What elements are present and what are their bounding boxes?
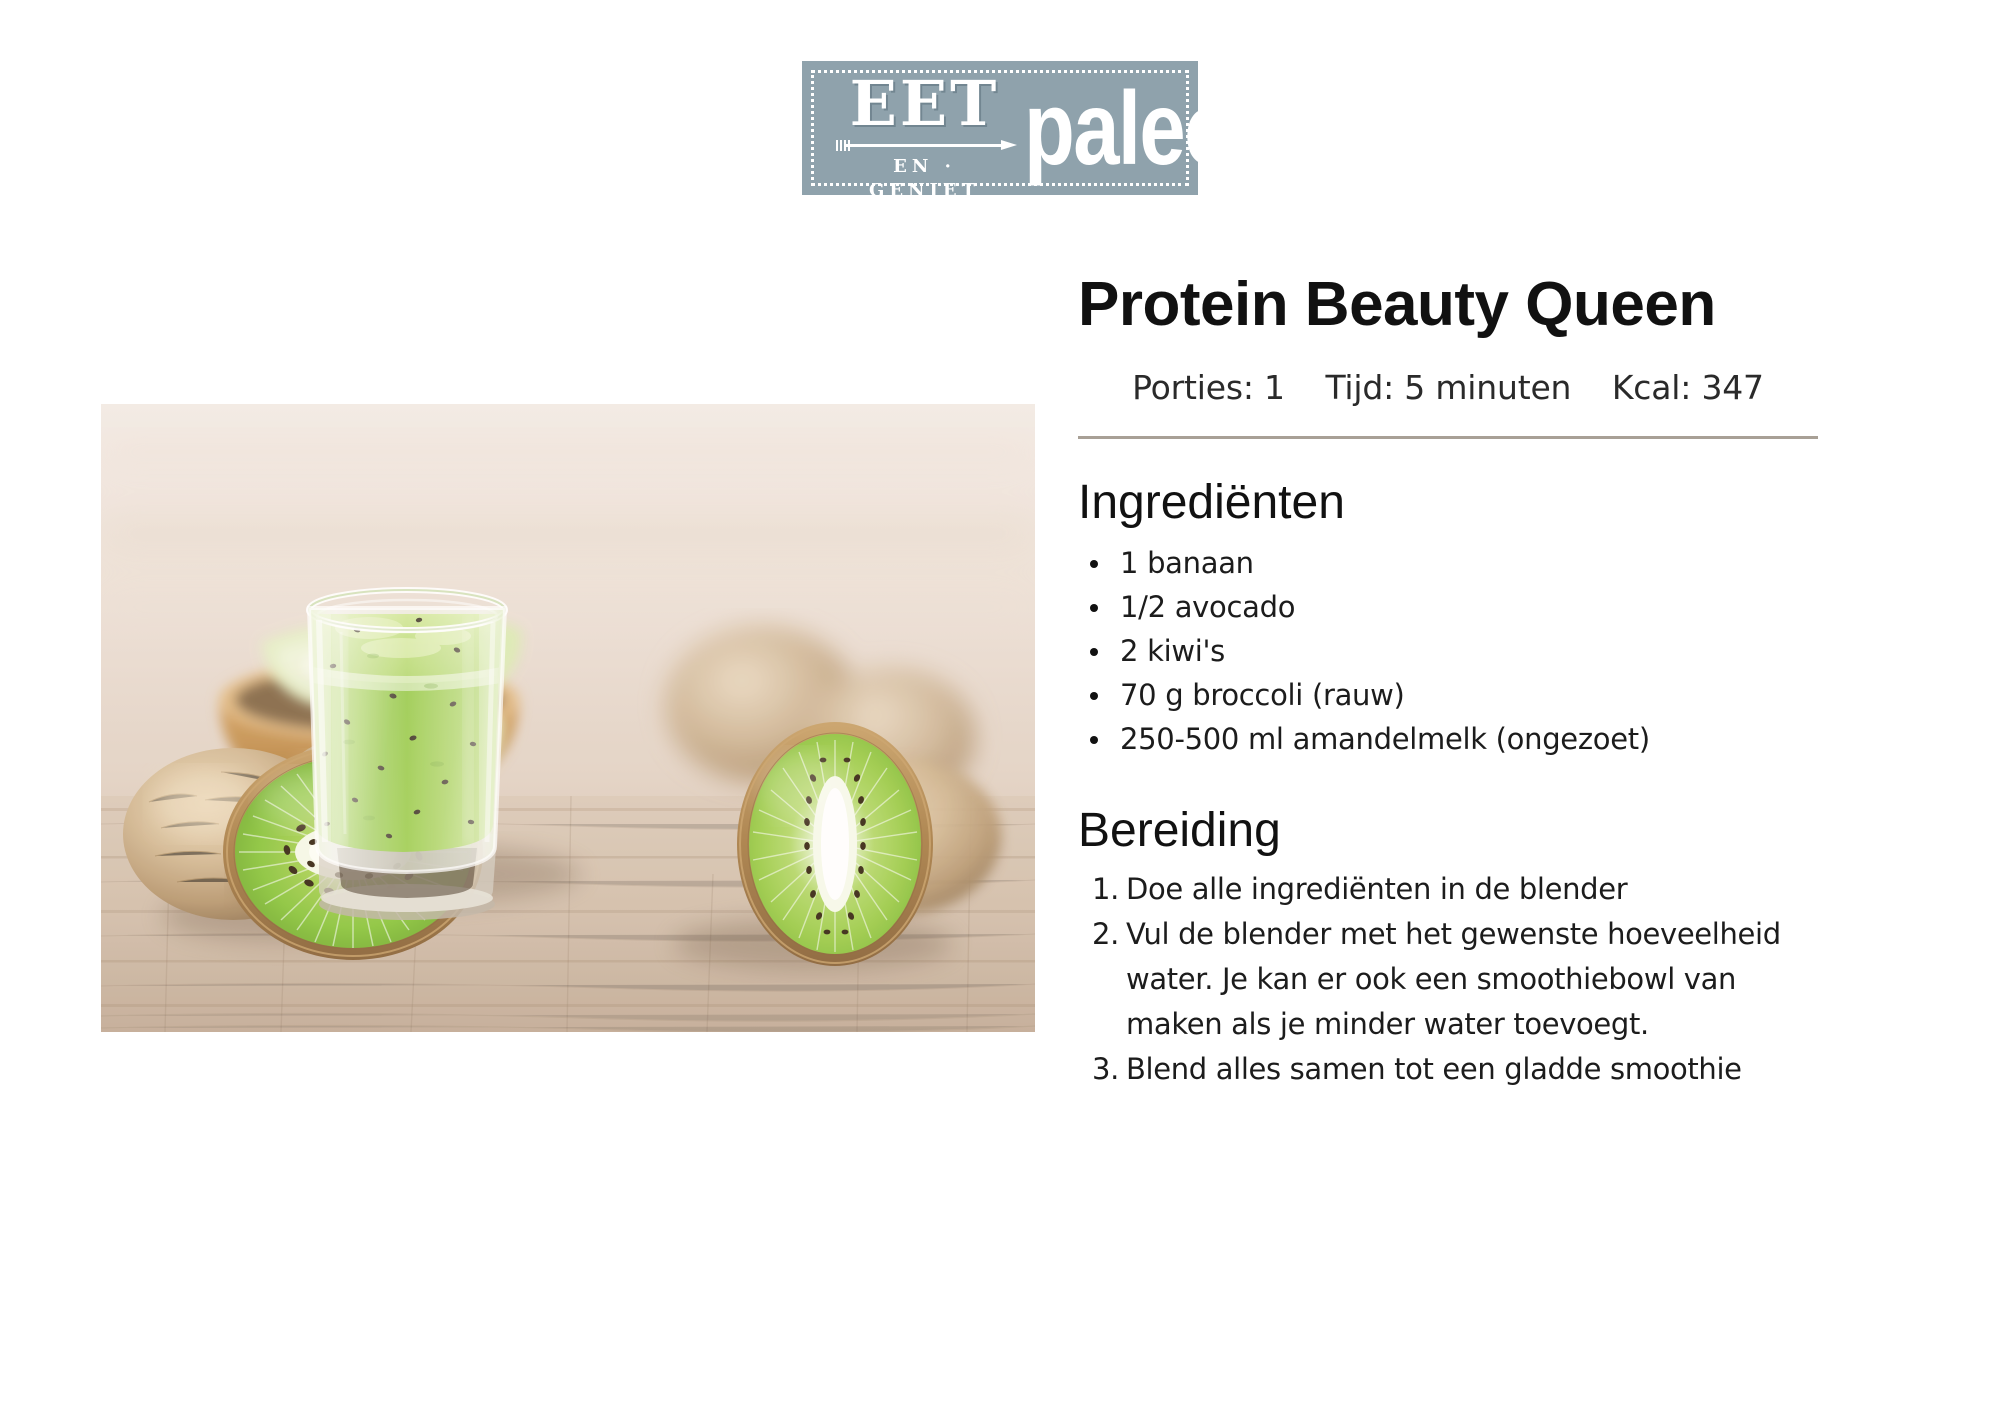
meta-calories: Kcal: 347 bbox=[1612, 368, 1764, 407]
fork-arrow-icon bbox=[832, 140, 1017, 151]
brand-name-primary: EET bbox=[832, 73, 1017, 135]
brand-name-secondary: paleo bbox=[1024, 77, 1233, 181]
list-item: 70 g broccoli (rauw) bbox=[1078, 673, 1818, 717]
preparation-list: Doe alle ingrediënten in de blender Vul … bbox=[1078, 867, 1818, 1092]
brand-tagline: EN · GENIET bbox=[832, 155, 1017, 203]
ingredients-heading: Ingrediënten bbox=[1078, 475, 1818, 531]
list-item: Doe alle ingrediënten in de blender bbox=[1078, 867, 1798, 912]
brand-logo-left-block: EET EN · GENIET bbox=[832, 73, 1017, 203]
list-item: Blend alles samen tot een gladde smoothi… bbox=[1078, 1047, 1798, 1092]
list-item: 1 banaan bbox=[1078, 541, 1818, 585]
recipe-photo bbox=[101, 404, 1035, 1032]
list-item: Vul de blender met het gewenste hoeveelh… bbox=[1078, 912, 1798, 1047]
section-divider bbox=[1078, 436, 1818, 439]
list-item: 250-500 ml amandelmelk (ongezoet) bbox=[1078, 717, 1818, 761]
meta-time: Tijd: 5 minuten bbox=[1325, 368, 1571, 407]
recipe-meta: Porties: 1 Tijd: 5 minuten Kcal: 347 bbox=[1078, 366, 1818, 410]
preparation-heading: Bereiding bbox=[1078, 803, 1818, 859]
list-item: 1/2 avocado bbox=[1078, 585, 1818, 629]
recipe-page: EET EN · GENIET paleo bbox=[0, 0, 2000, 1408]
recipe-photo-artwork bbox=[101, 404, 1035, 1032]
recipe-content: Protein Beauty Queen Porties: 1 Tijd: 5 … bbox=[1078, 270, 1818, 1092]
list-item: 2 kiwi's bbox=[1078, 629, 1818, 673]
page-title: Protein Beauty Queen bbox=[1078, 270, 1818, 340]
brand-logo: EET EN · GENIET paleo bbox=[802, 61, 1198, 195]
ingredients-list: 1 banaan 1/2 avocado 2 kiwi's 70 g brocc… bbox=[1078, 541, 1818, 761]
meta-servings: Porties: 1 bbox=[1132, 368, 1285, 407]
